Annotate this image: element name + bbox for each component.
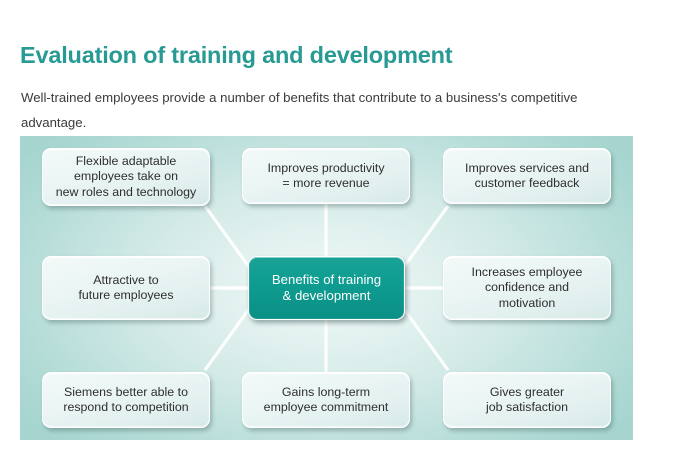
node-line-2: confidence and — [472, 280, 583, 295]
center-node-line-1: Benefits of training — [272, 272, 381, 288]
node-line-2: respond to competition — [63, 400, 188, 415]
node-line-1: Improves productivity — [267, 161, 384, 176]
node-line-2: future employees — [78, 288, 173, 303]
benefit-node-center-benefits-of-training[interactable]: Benefits of training & development — [248, 256, 405, 320]
benefit-node-flexible-adaptable-employees[interactable]: Flexible adaptable employees take on new… — [42, 148, 210, 206]
benefit-node-attractive-to-future-employees[interactable]: Attractive to future employees — [42, 256, 210, 320]
node-line-2: = more revenue — [267, 176, 384, 191]
node-line-3: motivation — [472, 296, 583, 311]
node-line-2: customer feedback — [465, 176, 589, 191]
node-line-2: employees take on — [56, 169, 197, 184]
page-title: Evaluation of training and development — [20, 42, 452, 69]
benefit-node-improves-services[interactable]: Improves services and customer feedback — [443, 148, 611, 204]
node-line-1: Siemens better able to — [63, 385, 188, 400]
node-line-2: employee commitment — [264, 400, 389, 415]
benefit-node-improves-productivity[interactable]: Improves productivity = more revenue — [242, 148, 410, 204]
node-line-1: Attractive to — [78, 273, 173, 288]
node-line-1: Gives greater — [486, 385, 568, 400]
benefit-node-gains-long-term-commitment[interactable]: Gains long-term employee commitment — [242, 372, 410, 428]
benefit-node-increases-employee-confidence[interactable]: Increases employee confidence and motiva… — [443, 256, 611, 320]
center-node-line-2: & development — [272, 288, 381, 304]
node-line-1: Gains long-term — [264, 385, 389, 400]
node-line-3: new roles and technology — [56, 185, 197, 200]
node-line-1: Increases employee — [472, 265, 583, 280]
benefits-diagram-panel: Flexible adaptable employees take on new… — [20, 136, 633, 440]
node-line-1: Improves services and — [465, 161, 589, 176]
node-line-2: job satisfaction — [486, 400, 568, 415]
benefit-node-siemens-respond-to-competition[interactable]: Siemens better able to respond to compet… — [42, 372, 210, 428]
page-subtitle: Well-trained employees provide a number … — [21, 85, 621, 135]
node-line-1: Flexible adaptable — [56, 154, 197, 169]
benefit-node-gives-greater-job-satisfaction[interactable]: Gives greater job satisfaction — [443, 372, 611, 428]
